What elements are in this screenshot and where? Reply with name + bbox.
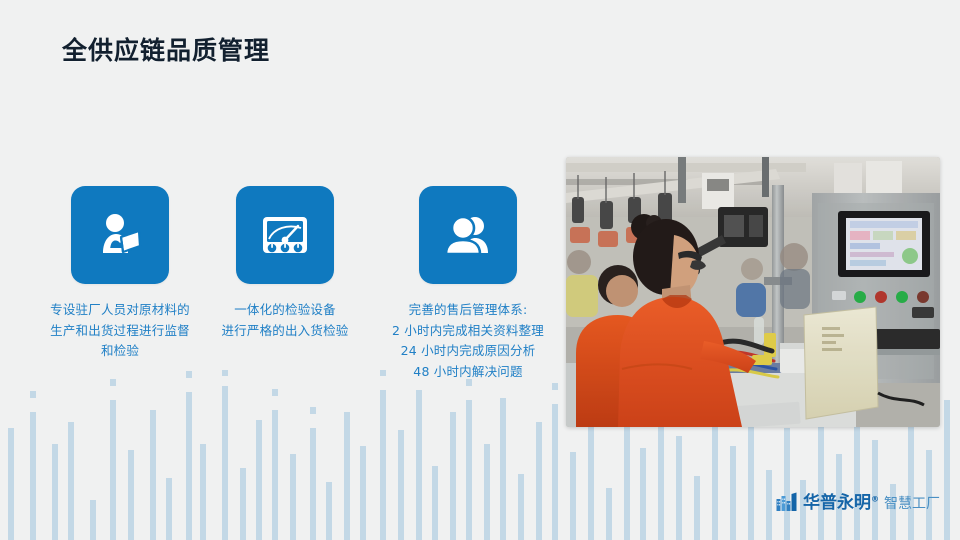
pattern-bar: [466, 400, 472, 540]
pattern-bar: [128, 450, 134, 540]
feature-caption: 完善的售后管理体系: 2 小时内完成相关资料整理 24 小时内完成原因分析 48…: [373, 300, 563, 383]
pattern-bar: [360, 446, 366, 540]
pattern-bar: [818, 408, 824, 540]
feature-item-test-equipment: 一体化的检验设备 进行严格的出入货检验: [207, 186, 363, 341]
pattern-bar: [624, 420, 630, 540]
pattern-bar: [518, 474, 524, 540]
pattern-bar: [310, 428, 316, 540]
feature-caption: 专设驻厂人员对原材料的 生产和出货过程进行监督 和检验: [25, 300, 215, 362]
logo-tagline: 智慧工厂: [884, 496, 940, 512]
pattern-bar: [186, 392, 192, 540]
pattern-bar: [68, 422, 74, 540]
pattern-bar: [450, 412, 456, 540]
pattern-bar: [766, 470, 772, 540]
brand-logo: 华普永明® 智慧工厂: [776, 492, 940, 512]
logo-brand-name-text: 华普永明: [803, 493, 871, 513]
pattern-bar: [552, 404, 558, 540]
pattern-bar: [90, 500, 96, 540]
pattern-bar: [748, 424, 754, 540]
pattern-bar: [398, 430, 404, 540]
pattern-bar: [484, 444, 490, 540]
factory-production-line-photo: [566, 157, 940, 427]
pattern-bar: [380, 390, 386, 540]
pattern-bar-segment: [310, 407, 316, 414]
pattern-bar: [416, 390, 422, 540]
logo-brand-name: 华普永明®: [803, 495, 879, 512]
pattern-bar: [256, 420, 262, 540]
feature-item-after-sales: 完善的售后管理体系: 2 小时内完成相关资料整理 24 小时内完成原因分析 48…: [373, 186, 563, 383]
slide-root: 全供应链品质管理 专设驻厂人员对原材料的 生产和出货过程进行监督 和检验: [0, 0, 960, 540]
pattern-bar: [290, 454, 296, 540]
feature-list: 专设驻厂人员对原材料的 生产和出货过程进行监督 和检验 一体: [0, 186, 560, 406]
pattern-bar: [854, 410, 860, 540]
pattern-bar: [944, 400, 950, 540]
pattern-bar: [500, 398, 506, 540]
pattern-bar: [166, 478, 172, 540]
pattern-bar: [240, 468, 246, 540]
pattern-bar: [570, 452, 576, 540]
factory-building-icon: [776, 492, 798, 512]
pattern-bar: [52, 444, 58, 540]
pattern-bar: [588, 410, 594, 540]
pattern-bar: [30, 412, 36, 540]
gauge-meter-icon: [236, 186, 334, 284]
person-reading-document-icon: [71, 186, 169, 284]
two-people-icon: [419, 186, 517, 284]
pattern-bar: [110, 400, 116, 540]
pattern-bar: [694, 476, 700, 540]
pattern-bar: [344, 412, 350, 540]
pattern-bar: [606, 488, 612, 540]
pattern-bar: [908, 416, 914, 540]
pattern-bar: [432, 466, 438, 540]
pattern-bar: [784, 428, 790, 540]
pattern-bar: [222, 386, 228, 540]
pattern-bar: [326, 482, 332, 540]
pattern-bar: [658, 412, 664, 540]
page-title: 全供应链品质管理: [62, 36, 270, 66]
pattern-bar: [712, 414, 718, 540]
logo-trademark: ®: [871, 494, 879, 503]
pattern-bar: [150, 410, 156, 540]
pattern-bar: [730, 446, 736, 540]
pattern-bar: [872, 440, 878, 540]
pattern-bar: [676, 436, 682, 540]
pattern-bar: [536, 422, 542, 540]
pattern-bar: [8, 428, 14, 540]
pattern-bar: [640, 448, 646, 540]
pattern-bar: [272, 410, 278, 540]
pattern-bar: [200, 444, 206, 540]
feature-item-incoming-inspection: 专设驻厂人员对原材料的 生产和出货过程进行监督 和检验: [25, 186, 215, 362]
feature-caption: 一体化的检验设备 进行严格的出入货检验: [207, 300, 363, 341]
